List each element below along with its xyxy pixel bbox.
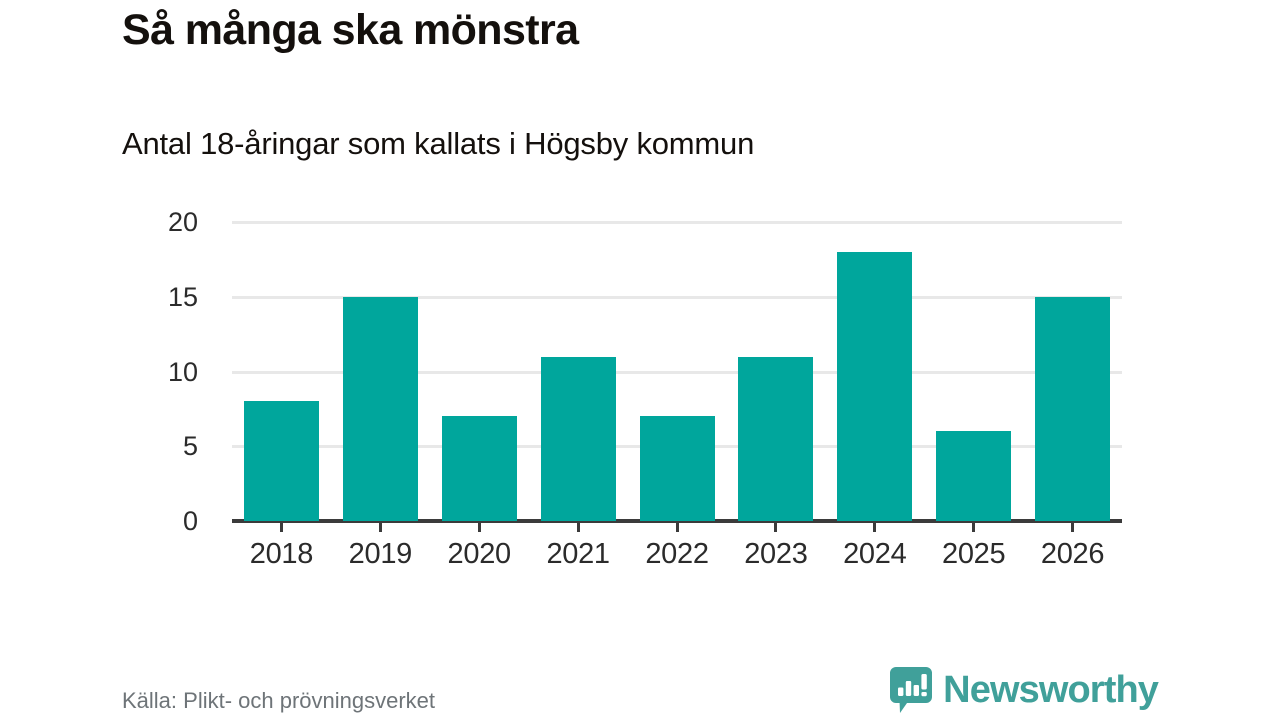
newsworthy-wordmark: Newsworthy [943, 671, 1158, 709]
y-axis-tick-label: 10 [78, 359, 198, 386]
x-axis-tick [873, 523, 876, 532]
x-axis-tick [577, 523, 580, 532]
x-axis-tick [379, 523, 382, 532]
bar[interactable] [244, 401, 319, 521]
bar[interactable] [343, 297, 418, 521]
x-axis-tick-label: 2026 [1013, 536, 1133, 572]
bar[interactable] [541, 357, 616, 521]
bar[interactable] [936, 431, 1011, 521]
newsworthy-logo[interactable]: Newsworthy [890, 666, 1158, 714]
y-axis-tick-label: 15 [78, 284, 198, 311]
bar[interactable] [837, 252, 912, 521]
x-axis-tick [972, 523, 975, 532]
chart-canvas: Så många ska mönstra Antal 18-åringar so… [0, 0, 1280, 720]
plot-area [232, 222, 1122, 521]
bar[interactable] [738, 357, 813, 521]
x-axis-tick [478, 523, 481, 532]
x-axis-tick [280, 523, 283, 532]
source-note: Källa: Plikt- och prövningsverket [122, 688, 435, 714]
y-axis: 05101520 [78, 0, 198, 720]
y-axis-tick-label: 5 [78, 433, 198, 460]
bar-chart-exclamation-speech-bubble-icon [890, 667, 932, 713]
y-axis-tick-label: 20 [78, 209, 198, 236]
x-axis-tick [1071, 523, 1074, 532]
chart-title: Så många ska mönstra [122, 4, 1162, 56]
bar[interactable] [442, 416, 517, 521]
x-axis-tick [676, 523, 679, 532]
bar[interactable] [1035, 297, 1110, 521]
chart-subtitle: Antal 18-åringar som kallats i Högsby ko… [122, 124, 1162, 164]
y-axis-tick-label: 0 [78, 508, 198, 535]
bar[interactable] [640, 416, 715, 521]
x-axis-tick [774, 523, 777, 532]
